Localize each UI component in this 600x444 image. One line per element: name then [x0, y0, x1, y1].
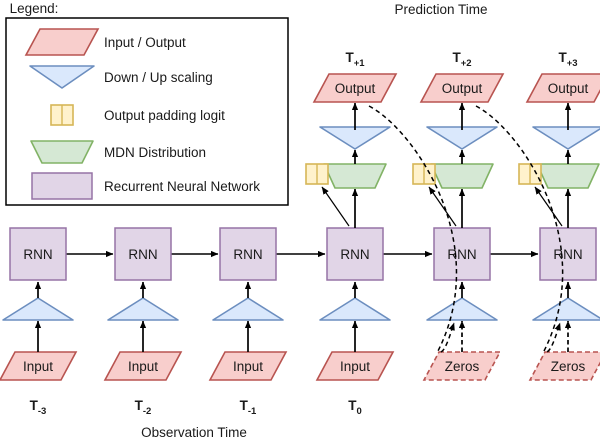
legend-label-1: Down / Up scaling [104, 70, 213, 85]
io-node-output-label-3: Output [335, 81, 376, 96]
diagram-canvas: Legend:Input / OutputDown / Up scalingOu… [0, 0, 600, 444]
prediction-label-4: T+2 [452, 50, 471, 69]
rnn-node-label-0: RNN [23, 247, 52, 262]
rnn-to-logit-arrow-4 [429, 187, 456, 226]
io-node-input-label-4: Zeros [445, 359, 480, 374]
io-node-input-label-3: Input [340, 359, 370, 374]
legend-label-3: MDN Distribution [104, 145, 206, 160]
downscale-triangle-2 [213, 298, 283, 320]
legend-icon-rectangle-icon [32, 173, 92, 199]
timestep-label-1: T-2 [135, 398, 152, 417]
downscale-triangle-4 [427, 298, 497, 320]
io-node-input-label-5: Zeros [551, 359, 586, 374]
upscale-triangle-4 [427, 127, 497, 149]
prediction-time-title: Prediction Time [394, 2, 487, 17]
legend-icon-trapezoid-icon [31, 141, 93, 163]
mdn-node-4 [431, 164, 493, 188]
legend-icon-triangle-down-icon [30, 66, 94, 88]
timestep-label-0: T-3 [30, 398, 47, 417]
io-node-input-label-1: Input [128, 359, 158, 374]
upscale-triangle-5 [533, 127, 600, 149]
downscale-triangle-3 [320, 298, 390, 320]
io-node-output-label-4: Output [442, 81, 483, 96]
rnn-node-label-5: RNN [553, 247, 582, 262]
downscale-triangle-0 [3, 298, 73, 320]
rnn-node-label-3: RNN [340, 247, 369, 262]
prediction-label-5: T+3 [558, 50, 577, 69]
prediction-label-3: T+1 [345, 50, 365, 69]
timestep-label-2: T-1 [240, 398, 257, 417]
downscale-triangle-1 [108, 298, 178, 320]
legend-label-2: Output padding logit [104, 108, 225, 123]
legend-label-0: Input / Output [104, 35, 186, 50]
timestep-label-3: T0 [348, 398, 362, 417]
rnn-node-label-1: RNN [128, 247, 157, 262]
io-node-input-label-0: Input [23, 359, 53, 374]
downscale-triangle-5 [533, 298, 600, 320]
legend-icon-parallelogram-icon [26, 29, 98, 55]
observation-time-title: Observation Time [141, 425, 247, 440]
rnn-to-logit-arrow-3 [322, 187, 349, 226]
mdn-node-5 [537, 164, 599, 188]
diagram-svg: Legend:Input / OutputDown / Up scalingOu… [0, 0, 600, 444]
rnn-node-label-4: RNN [447, 247, 476, 262]
legend-title: Legend: [10, 1, 59, 16]
io-node-input-label-2: Input [233, 359, 263, 374]
legend-label-4: Recurrent Neural Network [104, 179, 260, 194]
upscale-triangle-3 [320, 127, 390, 149]
io-node-output-label-5: Output [548, 81, 589, 96]
rnn-to-logit-arrow-5 [535, 187, 562, 226]
rnn-node-label-2: RNN [233, 247, 262, 262]
mdn-node-3 [324, 164, 386, 188]
